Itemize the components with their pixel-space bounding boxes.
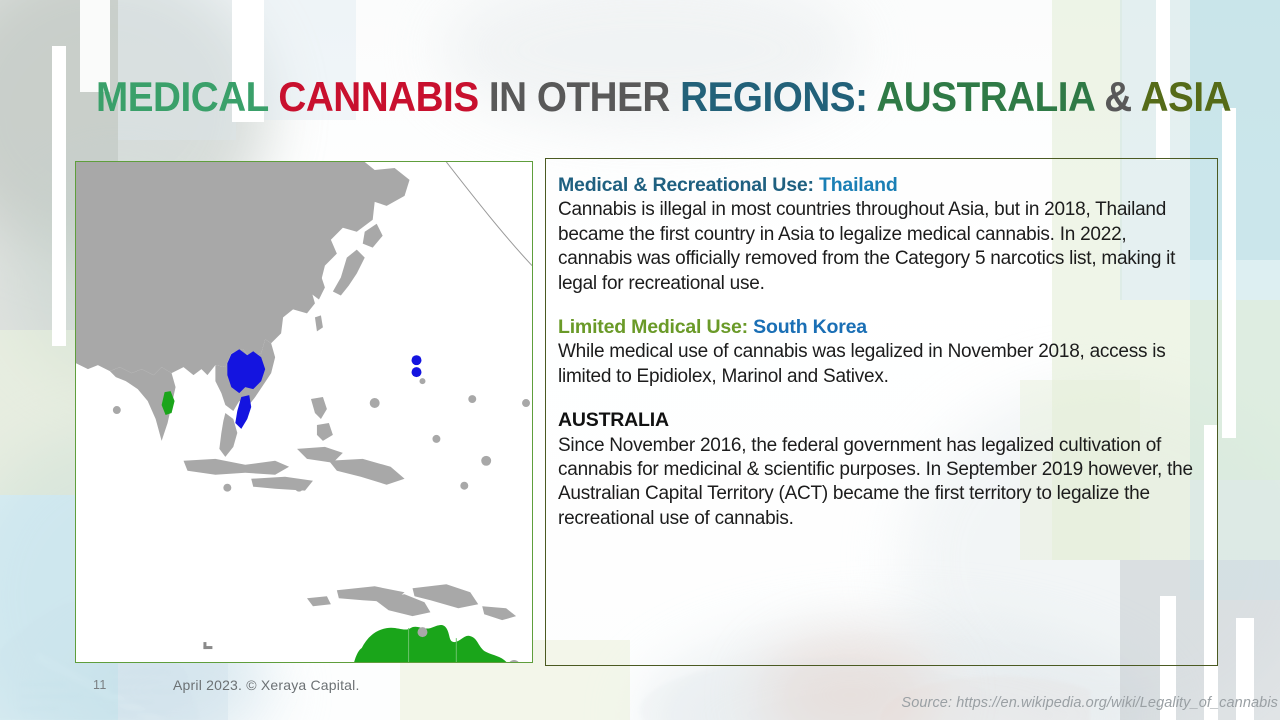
title-part-6: ASIA xyxy=(1141,73,1231,120)
footer-credit: April 2023. © Xeraya Capital. xyxy=(173,677,360,693)
content-panel: Medical & Recreational Use: ThailandCann… xyxy=(545,158,1218,666)
page-title: MEDICAL CANNABIS IN OTHER REGIONS: AUSTR… xyxy=(96,76,1231,118)
section-heading-part-1-1: South Korea xyxy=(748,316,867,338)
page-number: 11 xyxy=(93,678,107,692)
map-figure xyxy=(75,161,533,663)
section-body-0: Cannabis is illegal in most countries th… xyxy=(558,198,1201,296)
section-heading-part-1-0: Limited Medical Use: xyxy=(558,316,748,338)
section-body-1: While medical use of cannabis was legali… xyxy=(558,340,1201,389)
section-heading-1: Limited Medical Use: South Korea xyxy=(558,315,1201,339)
world-map-svg xyxy=(76,162,532,662)
title-part-5: & xyxy=(1104,73,1140,120)
decorative-white-bar xyxy=(1222,108,1236,438)
title-part-4: AUSTRALIA xyxy=(876,73,1104,120)
section-heading-2: AUSTRALIA xyxy=(558,408,1201,432)
title-part-2: IN OTHER xyxy=(489,73,680,120)
section-heading-part-0-0: Medical & Recreational Use: xyxy=(558,174,814,196)
title-part-0: MEDICAL xyxy=(96,73,278,120)
section-heading-part-0-1: Thailand xyxy=(814,174,898,196)
section-heading-part-2-0: AUSTRALIA xyxy=(558,409,669,431)
section-gap xyxy=(558,296,1201,315)
title-part-3: REGIONS: xyxy=(680,73,876,120)
section-body-2: Since November 2016, the federal governm… xyxy=(558,434,1201,532)
section-heading-0: Medical & Recreational Use: Thailand xyxy=(558,173,1201,197)
section-gap xyxy=(558,389,1201,408)
decorative-white-bar xyxy=(52,46,66,346)
content-sections: Medical & Recreational Use: ThailandCann… xyxy=(558,173,1201,531)
source-citation: Source: https://en.wikipedia.org/wiki/Le… xyxy=(901,695,1278,711)
title-part-1: CANNABIS xyxy=(278,73,489,120)
